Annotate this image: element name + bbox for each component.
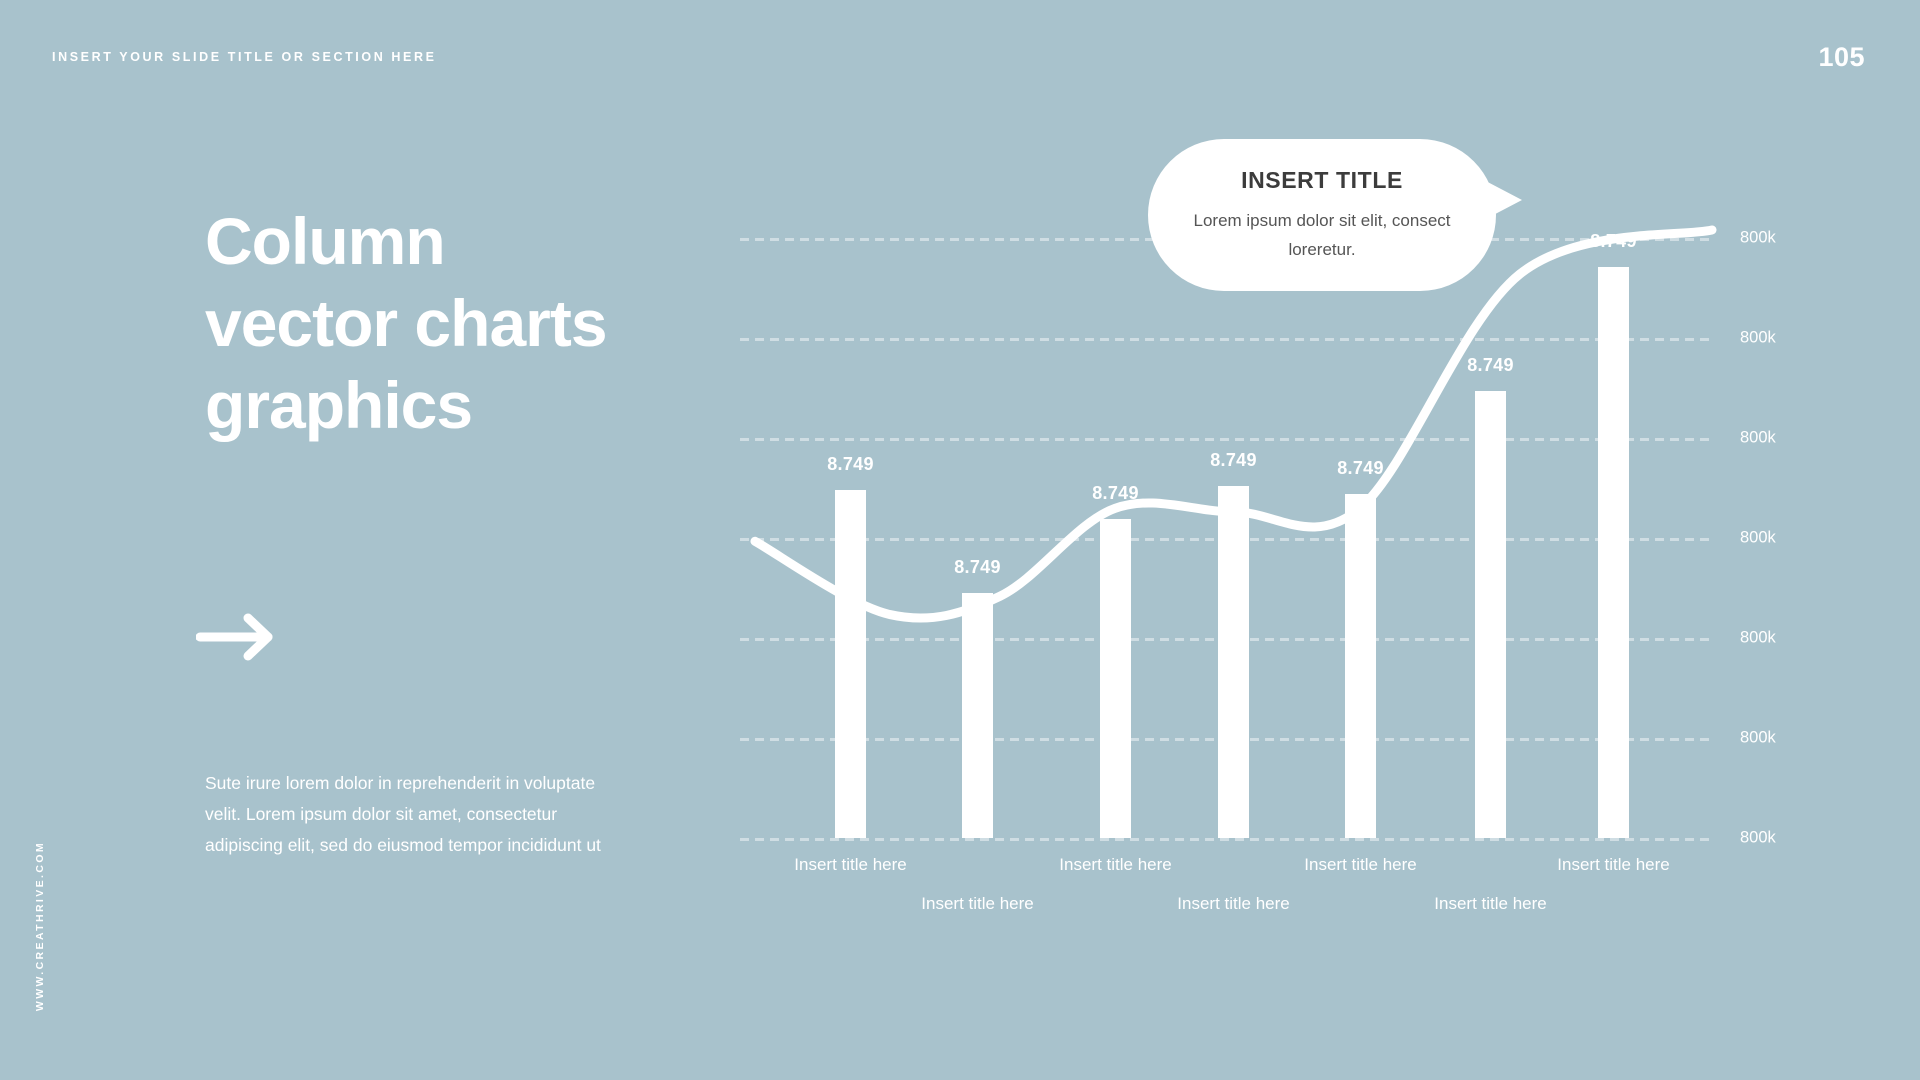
y-axis-tick-label: 800k [1740, 629, 1776, 648]
x-axis-label: Insert title here [1557, 855, 1669, 875]
column-chart: 800k800k800k800k800k800k800k 8.7498.7498… [0, 0, 1920, 1080]
bar-value-label: 8.749 [954, 557, 1001, 578]
bar[interactable] [1345, 494, 1376, 838]
gridline [740, 338, 1715, 341]
x-axis-label: Insert title here [1177, 894, 1289, 914]
y-axis-tick-label: 800k [1740, 829, 1776, 848]
y-axis-tick-label: 800k [1740, 729, 1776, 748]
bar[interactable] [835, 490, 866, 838]
x-axis-label: Insert title here [1059, 855, 1171, 875]
bar[interactable] [1218, 486, 1249, 838]
bar[interactable] [1100, 519, 1131, 838]
y-axis-tick-label: 800k [1740, 529, 1776, 548]
bar-value-label: 8.749 [1337, 458, 1384, 479]
callout-body: Lorem ipsum dolor sit elit, consect lore… [1192, 206, 1452, 264]
bar[interactable] [962, 593, 993, 838]
bar-value-label: 8.749 [1092, 483, 1139, 504]
y-axis-tick-label: 800k [1740, 429, 1776, 448]
y-axis-tick-label: 800k [1740, 229, 1776, 248]
x-axis-label: Insert title here [794, 855, 906, 875]
x-axis-label: Insert title here [921, 894, 1033, 914]
gridline [740, 838, 1715, 841]
bar-value-label: 8.749 [1467, 355, 1514, 376]
bar[interactable] [1475, 391, 1506, 838]
x-axis-label: Insert title here [1434, 894, 1546, 914]
gridline [740, 438, 1715, 441]
callout-bubble[interactable]: INSERT TITLE Lorem ipsum dolor sit elit,… [1148, 139, 1496, 291]
bar-value-label: 8.749 [827, 454, 874, 475]
callout-title: INSERT TITLE [1241, 167, 1403, 194]
bar-value-label: 8.749 [1590, 231, 1637, 252]
bar[interactable] [1598, 267, 1629, 838]
y-axis-tick-label: 800k [1740, 329, 1776, 348]
x-axis-label: Insert title here [1304, 855, 1416, 875]
bar-value-label: 8.749 [1210, 450, 1257, 471]
